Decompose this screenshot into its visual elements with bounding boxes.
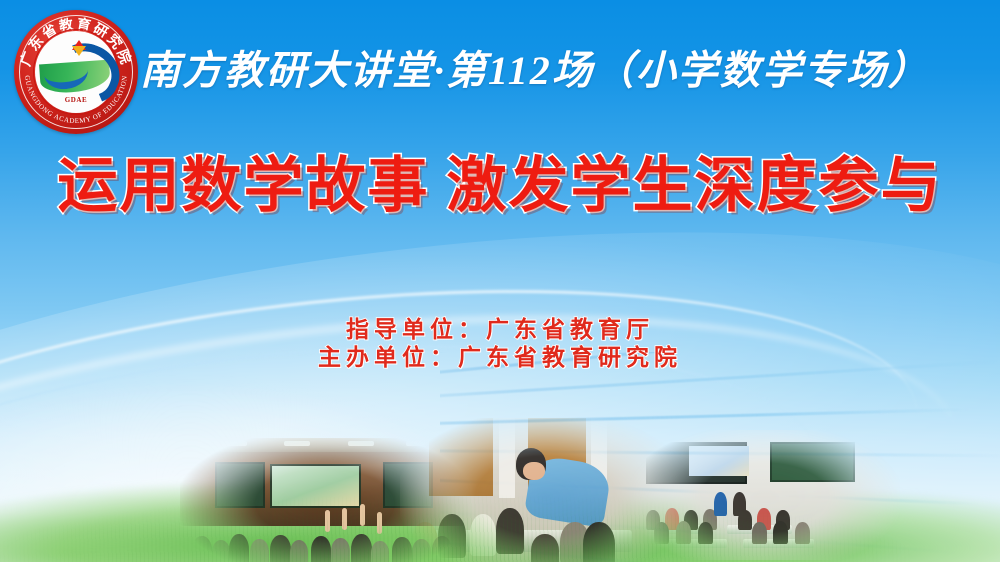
host-unit-line: 主办单位：广东省教育研究院 — [0, 344, 1000, 372]
main-title: 运用数学故事 激发学生深度参与 — [0, 152, 1000, 220]
guidance-unit-line: 指导单位：广东省教育厅 — [0, 316, 1000, 344]
header: 南方教研大讲堂·第112场（小学数学专场） — [140, 40, 980, 102]
logo-abbreviation: GDAE — [14, 96, 138, 104]
photo-band — [0, 392, 1000, 562]
presentation-slide: 广东省教育研究院 GUANGDONG ACADEMY OF EDUCATION … — [0, 0, 1000, 562]
organiser-block: 指导单位：广东省教育厅 主办单位：广东省教育研究院 — [0, 316, 1000, 372]
logo-emblem-mark — [38, 40, 114, 96]
logo-star-icon — [72, 40, 86, 50]
guangdong-academy-of-education-logo: 广东省教育研究院 GUANGDONG ACADEMY OF EDUCATION … — [14, 10, 138, 134]
grass-texture — [0, 452, 1000, 562]
header-title: 南方教研大讲堂·第112场（小学数学专场） — [140, 51, 930, 91]
